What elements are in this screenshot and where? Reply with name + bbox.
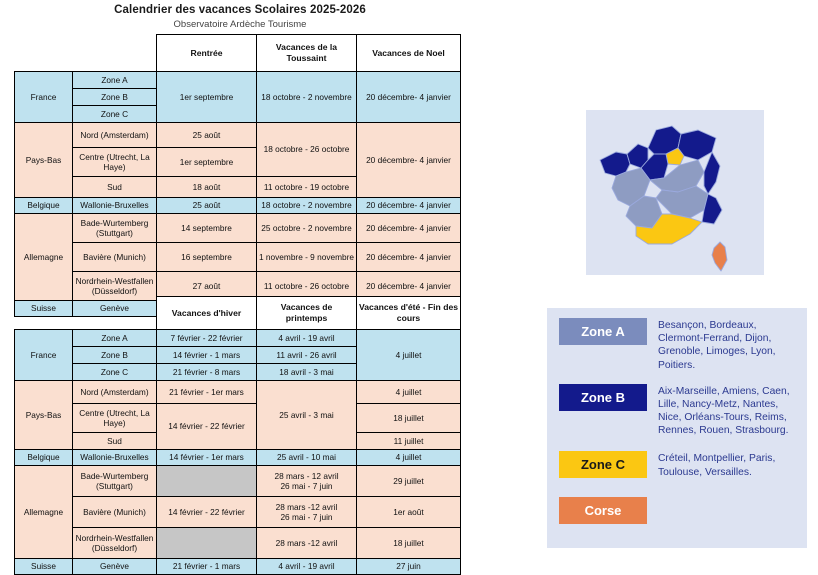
cell-centre-sud-hiver: 14 février - 22 février <box>157 404 257 450</box>
cell-belgique-noel: 20 décembre- 4 janvier <box>357 198 461 214</box>
legend-item-zone-b: Zone B Aix-Marseille, Amiens, Caen, Lill… <box>547 372 807 438</box>
legend-item-zone-a: Zone A Besançon, Bordeaux, Clermont-Ferr… <box>547 308 807 372</box>
cell-bw-rentree: 14 septembre <box>157 214 257 243</box>
calendar-table-spring-summer: Vacances d'hiver Vacances de printemps V… <box>14 296 461 575</box>
zone-a-cities: Besançon, Bordeaux, Clermont-Ferrand, Di… <box>658 318 797 372</box>
cell-nord-centre-toussaint: 18 octobre - 26 octobre <box>257 123 357 177</box>
row-country-france: France <box>15 72 73 123</box>
cell-bav-ete: 1er août <box>357 497 461 528</box>
france-map-svg <box>586 110 764 275</box>
cell-belgique-toussaint: 18 octobre - 2 novembre <box>257 198 357 214</box>
page-subtitle: Observatoire Ardèche Tourisme <box>0 19 480 30</box>
row-region-zone-b: Zone B <box>73 89 157 106</box>
row-region-baviere: Bavière (Munich) <box>73 497 157 528</box>
col-header-printemps: Vacances de printemps <box>257 297 357 330</box>
cell-centre-rentree: 1er septembre <box>157 148 257 177</box>
row-country-allemagne: Allemagne <box>15 214 73 301</box>
zone-c-cities: Créteil, Montpellier, Paris, Toulouse, V… <box>658 451 797 478</box>
col-header-ete: Vacances d'été - Fin des cours <box>357 297 461 330</box>
row-region-nord-amsterdam: Nord (Amsterdam) <box>73 123 157 148</box>
cell-bav-printemps-line2: 26 mai - 7 juin <box>280 512 332 522</box>
cell-pays-bas-noel: 20 décembre- 4 janvier <box>357 123 461 198</box>
cell-nord-hiver: 21 février - 1er mars <box>157 381 257 404</box>
france-zones-map <box>586 110 764 275</box>
row-region-baviere: Bavière (Munich) <box>73 243 157 272</box>
cell-zonea-hiver: 7 février - 22 février <box>157 330 257 347</box>
cell-bav-printemps-line1: 28 mars -12 avril <box>276 502 338 512</box>
row-region-bade-wurtemberg: Bade-Wurtemberg (Stuttgart) <box>73 214 157 243</box>
row-region-zone-b: Zone B <box>73 347 157 364</box>
cell-france-ete: 4 juillet <box>357 330 461 381</box>
row-country-suisse: Suisse <box>15 559 73 575</box>
cell-zonec-hiver: 21 février - 8 mars <box>157 364 257 381</box>
cell-france-noel: 20 décembre- 4 janvier <box>357 72 461 123</box>
cell-bw-ete: 29 juillet <box>357 466 461 497</box>
row-region-zone-a: Zone A <box>73 330 157 347</box>
row-country-belgique: Belgique <box>15 450 73 466</box>
zones-legend-panel: Zone A Besançon, Bordeaux, Clermont-Ferr… <box>547 308 807 548</box>
cell-nord-rentree: 25 août <box>157 123 257 148</box>
row-region-zone-c: Zone C <box>73 364 157 381</box>
cell-suisse-ete: 27 juin <box>357 559 461 575</box>
row-region-geneve: Genève <box>73 559 157 575</box>
row-country-pays-bas: Pays-Bas <box>15 123 73 198</box>
page-title: Calendrier des vacances Scolaires 2025-2… <box>0 4 480 16</box>
table-row: Suisse Genève 21 février - 1 mars 4 avri… <box>15 559 461 575</box>
row-country-belgique: Belgique <box>15 198 73 214</box>
cell-sud-ete: 11 juillet <box>357 433 461 450</box>
cell-bav-printemps: 28 mars -12 avril 26 mai - 7 juin <box>257 497 357 528</box>
row-country-allemagne: Allemagne <box>15 466 73 559</box>
table-row: Belgique Wallonie-Bruxelles 14 février -… <box>15 450 461 466</box>
row-country-pays-bas: Pays-Bas <box>15 381 73 450</box>
header-spacer <box>15 297 73 330</box>
row-region-bade-wurtemberg: Bade-Wurtemberg (Stuttgart) <box>73 466 157 497</box>
cell-belgique-printemps: 25 avril - 10 mai <box>257 450 357 466</box>
table-row: Allemagne Bade-Wurtemberg (Stuttgart) 28… <box>15 466 461 497</box>
row-region-sud: Sud <box>73 177 157 198</box>
col-header-hiver: Vacances d'hiver <box>157 297 257 330</box>
table-row: Allemagne Bade-Wurtemberg (Stuttgart) 14… <box>15 214 461 243</box>
table-row: Belgique Wallonie-Bruxelles 25 août 18 o… <box>15 198 461 214</box>
zone-c-swatch: Zone C <box>559 451 647 478</box>
table-row: Bavière (Munich) 16 septembre 1 novembre… <box>15 243 461 272</box>
cell-suisse-hiver: 21 février - 1 mars <box>157 559 257 575</box>
cell-zonec-printemps: 18 avril - 3 mai <box>257 364 357 381</box>
cell-bw-hiver-empty <box>157 466 257 497</box>
calendar-table-autumn: Rentrée Vacances de la Toussaint Vacance… <box>14 34 461 317</box>
row-region-sud: Sud <box>73 433 157 450</box>
table-row: Pays-Bas Nord (Amsterdam) 21 février - 1… <box>15 381 461 404</box>
cell-france-rentree: 1er septembre <box>157 72 257 123</box>
col-header-toussaint: Vacances de la Toussaint <box>257 35 357 72</box>
row-region-wallonie: Wallonie-Bruxelles <box>73 450 157 466</box>
cell-bw-printemps-line1: 28 mars - 12 avril <box>274 471 338 481</box>
title-block: Calendrier des vacances Scolaires 2025-2… <box>0 4 480 30</box>
cell-belgique-ete: 4 juillet <box>357 450 461 466</box>
header-spacer <box>73 297 157 330</box>
header-spacer <box>73 35 157 72</box>
table-row: France Zone A 1er septembre 18 octobre -… <box>15 72 461 89</box>
cell-sud-rentree: 18 août <box>157 177 257 198</box>
cell-bav-rentree: 16 septembre <box>157 243 257 272</box>
cell-bav-noel: 20 décembre- 4 janvier <box>357 243 461 272</box>
cell-france-toussaint: 18 octobre - 2 novembre <box>257 72 357 123</box>
cell-pays-bas-printemps: 25 avril - 3 mai <box>257 381 357 450</box>
cell-belgique-hiver: 14 février - 1er mars <box>157 450 257 466</box>
legend-item-corse: Corse <box>547 479 807 524</box>
cell-bav-toussaint: 1 novembre - 9 novembre <box>257 243 357 272</box>
table-header-row: Rentrée Vacances de la Toussaint Vacance… <box>15 35 461 72</box>
cell-sud-toussaint: 11 octobre - 19 octobre <box>257 177 357 198</box>
table-row: Pays-Bas Nord (Amsterdam) 25 août 18 oct… <box>15 123 461 148</box>
cell-zoneb-printemps: 11 avril - 26 avril <box>257 347 357 364</box>
cell-zonea-printemps: 4 avril - 19 avril <box>257 330 357 347</box>
row-region-zone-c: Zone C <box>73 106 157 123</box>
cell-zoneb-hiver: 14 février - 1 mars <box>157 347 257 364</box>
table-header-row: Vacances d'hiver Vacances de printemps V… <box>15 297 461 330</box>
col-header-rentree: Rentrée <box>157 35 257 72</box>
header-spacer <box>15 35 73 72</box>
cell-belgique-rentree: 25 août <box>157 198 257 214</box>
cell-bw-printemps-line2: 26 mai - 7 juin <box>280 481 332 491</box>
cell-bw-printemps: 28 mars - 12 avril 26 mai - 7 juin <box>257 466 357 497</box>
row-region-centre-utrecht: Centre (Utrecht, La Haye) <box>73 404 157 433</box>
zone-a-swatch: Zone A <box>559 318 647 345</box>
cell-nord-ete: 4 juillet <box>357 381 461 404</box>
row-region-nord-amsterdam: Nord (Amsterdam) <box>73 381 157 404</box>
row-country-france: France <box>15 330 73 381</box>
zone-b-cities: Aix-Marseille, Amiens, Caen, Lille, Nanc… <box>658 384 797 438</box>
cell-centre-ete: 18 juillet <box>357 404 461 433</box>
cell-suisse-printemps: 4 avril - 19 avril <box>257 559 357 575</box>
zone-b-swatch: Zone B <box>559 384 647 411</box>
table-row: France Zone A 7 février - 22 février 4 a… <box>15 330 461 347</box>
corse-swatch: Corse <box>559 497 647 524</box>
row-region-zone-a: Zone A <box>73 72 157 89</box>
legend-item-zone-c: Zone C Créteil, Montpellier, Paris, Toul… <box>547 437 807 478</box>
row-region-centre-utrecht: Centre (Utrecht, La Haye) <box>73 148 157 177</box>
row-region-wallonie: Wallonie-Bruxelles <box>73 198 157 214</box>
cell-bw-toussaint: 25 octobre - 2 novembre <box>257 214 357 243</box>
col-header-noel: Vacances de Noel <box>357 35 461 72</box>
table-row: Bavière (Munich) 14 février - 22 février… <box>15 497 461 528</box>
cell-bav-hiver: 14 février - 22 février <box>157 497 257 528</box>
cell-bw-noel: 20 décembre- 4 janvier <box>357 214 461 243</box>
table-row: Centre (Utrecht, La Haye) 14 février - 2… <box>15 404 461 433</box>
